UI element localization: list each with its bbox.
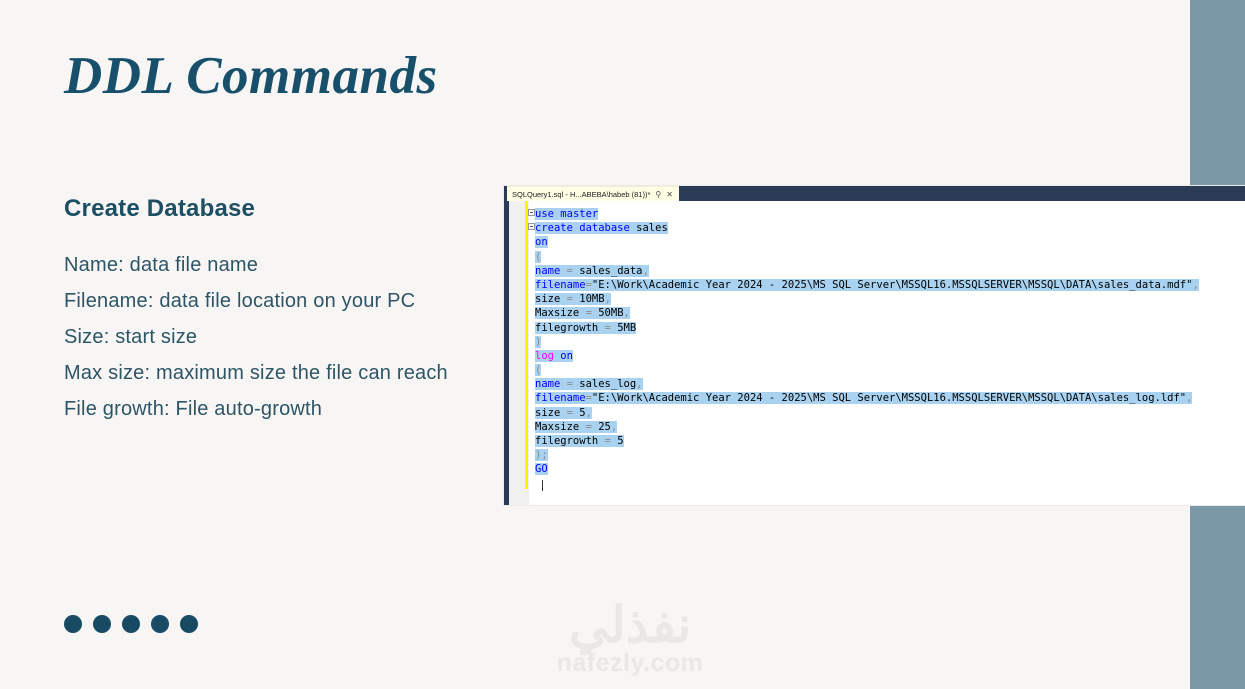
page-title: DDL Commands [64,46,438,106]
code-selection: ) [535,336,541,348]
code-token: filename [535,279,586,291]
decorative-dot [93,615,111,633]
ssms-editor-body: use mastercreate database saleson(name =… [504,201,1245,505]
code-token: = [560,407,579,419]
code-line[interactable]: use master [535,207,1245,221]
code-selection: Maxsize = 50MB, [535,307,630,319]
list-item: Filename: data file location on your PC [64,283,494,319]
decorative-dot [64,615,82,633]
decorative-dot [180,615,198,633]
decorative-dot [122,615,140,633]
code-token: 50MB [598,307,623,319]
code-token: , [611,421,617,433]
decorative-dot [151,615,169,633]
code-line[interactable]: GO [535,462,1245,476]
code-token: ( [535,364,541,376]
code-line[interactable]: ( [535,250,1245,264]
section-heading: Create Database [64,195,255,223]
code-line[interactable]: filegrowth = 5 [535,434,1245,448]
code-line[interactable]: create database sales [535,221,1245,235]
code-line[interactable]: ( [535,363,1245,377]
pin-icon[interactable]: ⚲ [655,191,661,199]
decorative-bar-bottom-right [1190,505,1245,689]
code-selection: log on [535,350,573,362]
code-token: = [579,421,598,433]
code-token: on [554,350,573,362]
ssms-titlebar: SQLQuery1.sql - H...ABEBA\habeb (81))* ⚲… [504,186,1245,201]
code-token: name [535,265,560,277]
editor-tab-sqlquery1[interactable]: SQLQuery1.sql - H...ABEBA\habeb (81))* ⚲… [507,186,679,202]
sql-code-area[interactable]: use mastercreate database saleson(name =… [529,201,1245,505]
code-token: = [579,307,598,319]
code-line[interactable]: ) [535,335,1245,349]
code-token: = [560,378,579,390]
code-token: filename [535,392,586,404]
code-token: ); [535,449,548,461]
code-line[interactable]: size = 10MB, [535,292,1245,306]
decorative-bar-top-right [1190,0,1245,195]
code-token: size [535,407,560,419]
code-token: 25 [598,421,611,433]
editor-change-bar [525,201,528,489]
code-line[interactable]: log on [535,349,1245,363]
code-token: 5MB [617,322,636,334]
code-token: , [642,265,648,277]
code-line[interactable]: filename="E:\Work\Academic Year 2024 - 2… [535,278,1245,292]
code-token: ( [535,251,541,263]
decorative-dot-row [64,615,198,633]
code-selection: filegrowth = 5 [535,435,624,447]
code-token: 5 [617,435,623,447]
code-selection: ); [535,449,548,461]
code-selection: size = 10MB, [535,293,611,305]
code-token: , [1186,392,1192,404]
code-token: filegrowth [535,322,598,334]
code-token: filegrowth [535,435,598,447]
code-token: 10MB [579,293,604,305]
code-selection: size = 5, [535,407,592,419]
code-token: = [598,435,617,447]
code-selection: filename="E:\Work\Academic Year 2024 - 2… [535,279,1199,291]
code-selection: filegrowth = 5MB [535,322,636,334]
code-line[interactable]: filename="E:\Work\Academic Year 2024 - 2… [535,391,1245,405]
watermark: نفذلي nafezly.com [525,600,735,678]
code-token: Maxsize [535,307,579,319]
code-token: master [560,208,598,220]
code-token: , [624,307,630,319]
bullet-list: Name: data file name Filename: data file… [64,247,494,427]
code-token: = [560,265,579,277]
fold-toggle-icon[interactable] [528,209,535,216]
code-token: use [535,208,560,220]
code-selection: ( [535,251,541,263]
code-selection: on [535,236,548,248]
watermark-latin: nafezly.com [525,650,735,678]
fold-toggle-icon[interactable] [528,223,535,230]
code-token: sales_log [579,378,636,390]
code-token: , [636,378,642,390]
code-line[interactable]: name = sales_data, [535,264,1245,278]
code-token: ) [535,336,541,348]
code-token: size [535,293,560,305]
list-item: Max size: maximum size the file can reac… [64,355,494,391]
code-line[interactable]: Maxsize = 25, [535,420,1245,434]
code-token: create database [535,222,636,234]
code-token: = [598,322,617,334]
editor-tab-label: SQLQuery1.sql - H...ABEBA\habeb (81))* [512,190,650,199]
watermark-arabic: نفذلي [525,600,735,650]
code-line[interactable]: on [535,235,1245,249]
code-line[interactable]: size = 5, [535,406,1245,420]
code-token: sales [636,222,668,234]
code-selection: GO [535,463,548,475]
code-token: "E:\Work\Academic Year 2024 - 2025\MS SQ… [592,279,1193,291]
text-caret [542,480,543,491]
close-icon[interactable]: ✕ [666,191,673,199]
code-selection: Maxsize = 25, [535,421,617,433]
editor-gutter[interactable] [509,201,529,505]
code-token: name [535,378,560,390]
list-item: Name: data file name [64,247,494,283]
code-line[interactable]: Maxsize = 50MB, [535,306,1245,320]
code-selection: use master [535,208,598,220]
code-selection: ( [535,364,541,376]
ssms-screenshot: SQLQuery1.sql - H...ABEBA\habeb (81))* ⚲… [504,186,1245,505]
code-line[interactable]: name = sales_log, [535,377,1245,391]
code-selection: name = sales_log, [535,378,643,390]
code-token: GO [535,463,548,475]
code-selection: filename="E:\Work\Academic Year 2024 - 2… [535,392,1192,404]
code-line[interactable]: ); [535,448,1245,462]
code-token: on [535,236,548,248]
list-item: File growth: File auto-growth [64,391,494,427]
code-token: Maxsize [535,421,579,433]
code-selection: create database sales [535,222,668,234]
code-selection: name = sales_data, [535,265,649,277]
code-token: log [535,350,554,362]
code-token: = [560,293,579,305]
code-line[interactable]: filegrowth = 5MB [535,321,1245,335]
code-token: sales_data [579,265,642,277]
code-token: , [605,293,611,305]
code-token: , [1192,279,1198,291]
code-token: , [586,407,592,419]
code-line-caret[interactable] [535,477,1245,491]
code-token: "E:\Work\Academic Year 2024 - 2025\MS SQ… [592,392,1186,404]
list-item: Size: start size [64,319,494,355]
